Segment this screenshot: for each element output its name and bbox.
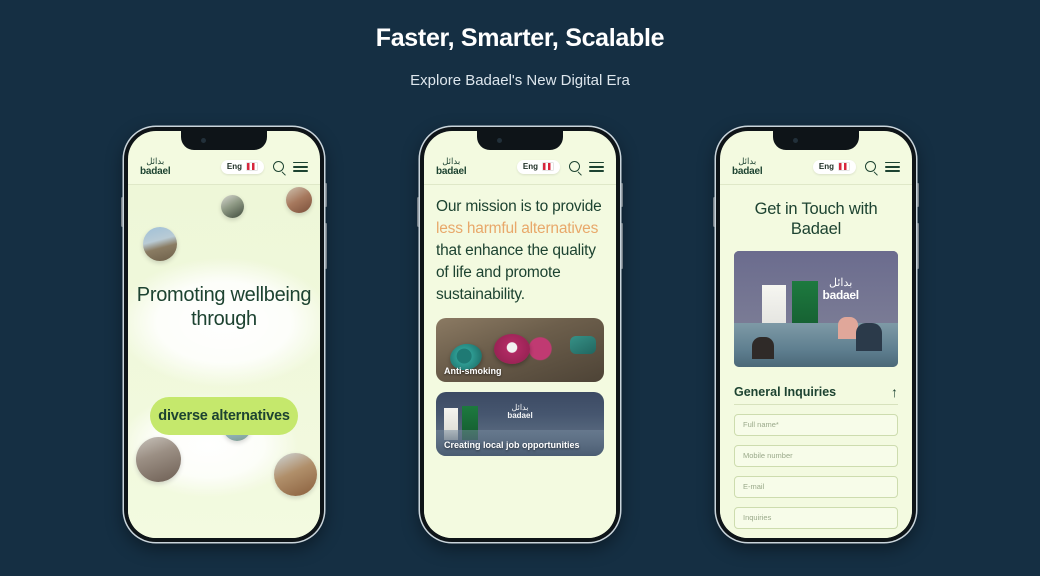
saudi-flag-icon bbox=[838, 162, 850, 171]
photo-bubble-worker bbox=[221, 195, 244, 218]
email-field[interactable]: E-mail bbox=[734, 476, 898, 498]
page-subtitle: Explore Badael's New Digital Era bbox=[0, 72, 1040, 89]
phone-frame: بدائل badael Eng bbox=[716, 127, 916, 542]
hamburger-menu-icon bbox=[885, 162, 900, 172]
field-placeholder: Inquiries bbox=[743, 513, 771, 522]
mission-statement: Our mission is to provide less harmful a… bbox=[436, 196, 604, 306]
logo-arabic-text: بدائل bbox=[436, 157, 466, 166]
phone-mockup-contact: بدائل badael Eng bbox=[716, 127, 916, 542]
logo-latin-text: badael bbox=[436, 167, 466, 177]
card-caption: Creating local job opportunities bbox=[444, 440, 580, 450]
menu-button[interactable] bbox=[885, 162, 900, 172]
card-job-opportunities[interactable]: بدائل badael Creating local job opportun… bbox=[436, 392, 604, 456]
logo-latin-text: badael bbox=[732, 167, 762, 177]
tin-pink bbox=[494, 334, 530, 364]
office-person bbox=[752, 337, 774, 359]
page-header: Faster, Smarter, Scalable Explore Badael… bbox=[0, 0, 1040, 89]
photo-bubble-desert-road bbox=[143, 227, 177, 261]
logo-arabic-text: بدائل bbox=[732, 157, 762, 166]
front-camera-icon bbox=[201, 138, 206, 143]
phone-silent-button bbox=[621, 183, 624, 207]
arrow-up-icon[interactable]: ↑ bbox=[891, 385, 898, 399]
search-icon bbox=[865, 161, 876, 172]
general-inquiries-header[interactable]: General Inquiries ↑ bbox=[734, 385, 898, 405]
phone-notch bbox=[773, 131, 859, 150]
mission-text-part2: that enhance the quality of life and pro… bbox=[436, 242, 596, 303]
hero-title: Promoting wellbeing through bbox=[128, 283, 320, 332]
mission-section: Our mission is to provide less harmful a… bbox=[424, 185, 616, 539]
badael-logo[interactable]: بدائل badael bbox=[732, 157, 762, 177]
search-icon bbox=[569, 161, 580, 172]
photo-bubble-market bbox=[286, 187, 312, 213]
office-wall-logo: بدائل badael bbox=[823, 277, 859, 302]
language-selector[interactable]: Eng bbox=[517, 160, 560, 174]
phone-screen: بدائل badael Eng bbox=[720, 131, 912, 538]
tin-background bbox=[570, 336, 596, 354]
search-icon bbox=[273, 161, 284, 172]
page-title: Faster, Smarter, Scalable bbox=[0, 24, 1040, 53]
badael-logo[interactable]: بدائل badael bbox=[436, 157, 466, 177]
inquiries-field[interactable]: Inquiries bbox=[734, 507, 898, 529]
field-placeholder: Mobile number bbox=[743, 451, 793, 460]
logo-latin-text: badael bbox=[140, 167, 170, 177]
language-selector[interactable]: Eng bbox=[813, 160, 856, 174]
language-label: Eng bbox=[523, 162, 538, 171]
office-wall-logo: بدائل badael bbox=[507, 404, 532, 421]
front-camera-icon bbox=[793, 138, 798, 143]
diverse-alternatives-pill[interactable]: diverse alternatives bbox=[150, 397, 298, 435]
mobile-number-field[interactable]: Mobile number bbox=[734, 445, 898, 467]
front-camera-icon bbox=[497, 138, 502, 143]
phone-mockup-home: بدائل badael Eng bbox=[124, 127, 324, 542]
saudi-flag-icon bbox=[246, 162, 258, 171]
phone-screen: بدائل badael Eng bbox=[128, 131, 320, 538]
saudi-flag-icon bbox=[542, 162, 554, 171]
office-person bbox=[838, 317, 858, 339]
contact-section: Get in Touch with Badael بدائل badael bbox=[720, 185, 912, 539]
search-button[interactable] bbox=[569, 161, 580, 172]
hero-section: Promoting wellbeing through diverse alte… bbox=[128, 185, 320, 539]
mission-text-highlight: less harmful alternatives bbox=[436, 220, 598, 237]
field-placeholder: E-mail bbox=[743, 482, 764, 491]
phone-silent-button bbox=[325, 183, 328, 207]
hamburger-menu-icon bbox=[293, 162, 308, 172]
phone-notch bbox=[181, 131, 267, 150]
phone-power-button bbox=[325, 223, 328, 269]
phone-mockup-mission: بدائل badael Eng bbox=[420, 127, 620, 542]
navbar-actions: Eng bbox=[221, 160, 308, 174]
card-anti-smoking[interactable]: Anti-smoking bbox=[436, 318, 604, 382]
language-label: Eng bbox=[819, 162, 834, 171]
phone-screen: بدائل badael Eng bbox=[424, 131, 616, 538]
photo-bubble-city-buildings bbox=[136, 437, 181, 482]
navbar-actions: Eng bbox=[517, 160, 604, 174]
navbar-actions: Eng bbox=[813, 160, 900, 174]
language-selector[interactable]: Eng bbox=[221, 160, 264, 174]
office-person bbox=[856, 323, 882, 351]
language-label: Eng bbox=[227, 162, 242, 171]
phone-notch bbox=[477, 131, 563, 150]
contact-title: Get in Touch with Badael bbox=[734, 199, 898, 240]
phone-power-button bbox=[621, 223, 624, 269]
badael-logo[interactable]: بدائل badael bbox=[140, 157, 170, 177]
office-logo-latin: badael bbox=[507, 412, 532, 420]
office-logo-latin: badael bbox=[823, 289, 859, 302]
hamburger-menu-icon bbox=[589, 162, 604, 172]
menu-button[interactable] bbox=[589, 162, 604, 172]
logo-arabic-text: بدائل bbox=[140, 157, 170, 166]
phone-mockups-row: بدائل badael Eng bbox=[0, 127, 1040, 542]
mission-text-part1: Our mission is to provide bbox=[436, 198, 602, 215]
search-button[interactable] bbox=[865, 161, 876, 172]
phone-frame: بدائل badael Eng bbox=[420, 127, 620, 542]
section-title: General Inquiries bbox=[734, 385, 836, 399]
phone-power-button bbox=[917, 223, 920, 269]
photo-bubble-mountain bbox=[274, 453, 317, 496]
phone-silent-button bbox=[917, 183, 920, 207]
badael-office-reception-photo: بدائل badael bbox=[734, 251, 898, 367]
card-caption: Anti-smoking bbox=[444, 366, 502, 376]
phone-frame: بدائل badael Eng bbox=[124, 127, 324, 542]
menu-button[interactable] bbox=[293, 162, 308, 172]
full-name-field[interactable]: Full name* bbox=[734, 414, 898, 436]
search-button[interactable] bbox=[273, 161, 284, 172]
field-placeholder: Full name* bbox=[743, 420, 779, 429]
